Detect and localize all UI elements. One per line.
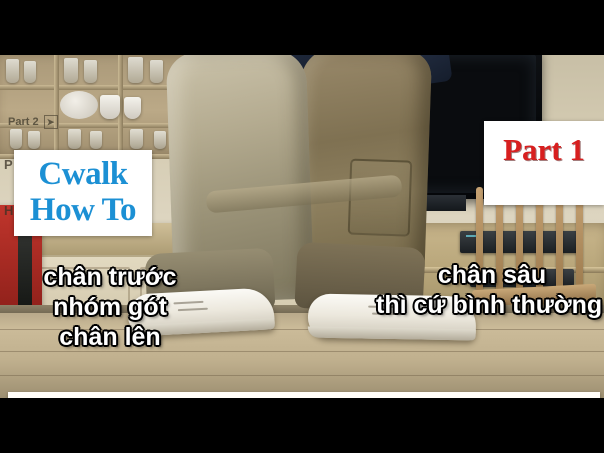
caption-left: chân trước nhóm gót chân lên	[20, 262, 200, 352]
ghost-letter-p: P	[4, 157, 13, 172]
letterbox-bottom	[0, 398, 604, 453]
caption-right-line-2: thì cứ bình thường	[376, 290, 602, 320]
letterbox-top	[0, 0, 604, 55]
ghost-letter-h: H	[4, 203, 13, 218]
caption-right: chân sâu thì cứ bình thường	[382, 260, 602, 320]
part-2-annotation[interactable]: Part 2 ➤	[8, 115, 58, 129]
part-2-label: Part 2	[8, 116, 39, 128]
part-1-label: Part 1	[484, 132, 604, 168]
caption-left-line-1: chân trước	[20, 262, 200, 292]
video-thumbnail-frame: P H Part 2 ➤ Cwalk How To Part 1 chân tr…	[0, 0, 604, 453]
caption-left-line-3: chân lên	[20, 322, 200, 352]
part-1-badge-box: Part 1	[484, 121, 604, 205]
title-line-2: How To	[14, 192, 152, 228]
title-line-1: Cwalk	[14, 156, 152, 192]
caption-right-line-1: chân sâu	[382, 260, 602, 290]
caption-left-line-2: nhóm gót	[20, 292, 200, 322]
title-overlay-box: Cwalk How To	[14, 150, 152, 236]
video-scene: P H Part 2 ➤ Cwalk How To Part 1 chân tr…	[0, 55, 604, 398]
arrow-right-icon: ➤	[44, 115, 58, 129]
